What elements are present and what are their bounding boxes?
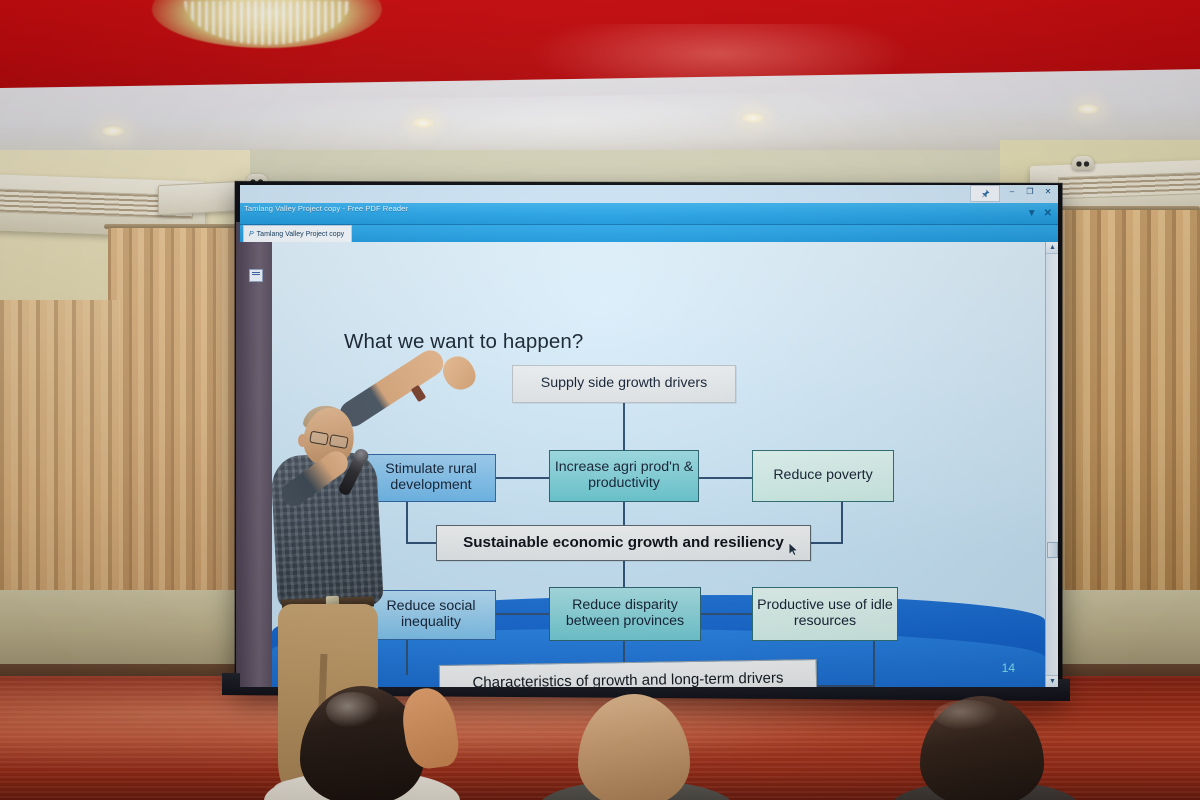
edge-right2-to-bottom — [817, 685, 875, 687]
node-reduce-disparity-between-provinces: Reduce disparity between provinces — [549, 587, 701, 641]
tab-strip — [240, 225, 1058, 242]
edge-left2-to-center2 — [496, 613, 549, 615]
security-camera-right — [1072, 156, 1094, 170]
tab-close-icon[interactable]: ✕ — [1044, 208, 1052, 219]
downlight-2 — [410, 117, 436, 129]
pdf-document-icon: P — [249, 231, 254, 238]
maximize-button[interactable]: ❐ — [1024, 186, 1036, 197]
scroll-down-button[interactable]: ▼ — [1046, 675, 1058, 687]
conference-room-photo: Tamlang Valley Project copy - Free PDF R… — [0, 0, 1200, 800]
edge-center1-to-right1 — [699, 477, 752, 479]
edge-right1-down — [841, 502, 843, 543]
tab-tamlang-valley-project[interactable]: P Tamlang Valley Project copy — [243, 225, 352, 242]
window-title: Tamlang Valley Project copy - Free PDF R… — [244, 204, 408, 213]
edge-core-to-center2 — [623, 561, 625, 587]
presenter-ear — [298, 434, 307, 447]
audience-hair-highlight-3 — [934, 700, 1000, 730]
node-supply-side-growth-drivers: Supply side growth drivers — [512, 365, 736, 403]
downlight-4 — [1075, 103, 1101, 115]
node-increase-agri-production: Increase agri prod'n & productivity — [549, 450, 699, 502]
edge-center2-to-right2 — [701, 613, 752, 615]
tab-dropdown-icon[interactable]: ▼ — [1027, 208, 1037, 219]
audience-head-3 — [920, 696, 1044, 800]
close-button[interactable]: ✕ — [1042, 186, 1054, 197]
mouse-cursor-icon — [788, 542, 799, 557]
downlight-3 — [740, 112, 766, 124]
edge-right2-down — [873, 641, 875, 686]
node-characteristics-of-growth: Characteristics of growth and long-term … — [439, 659, 818, 687]
edge-right1-to-core — [811, 542, 843, 544]
projector-mount-box — [158, 181, 244, 216]
vertical-scrollbar[interactable]: ▲ ▼ — [1045, 242, 1058, 687]
minimize-button[interactable]: – — [1006, 186, 1018, 197]
tab-label: Tamlang Valley Project copy — [257, 231, 344, 238]
edge-left1-to-center1 — [496, 477, 549, 479]
audience-head-2 — [578, 694, 690, 800]
edge-center1-to-core — [623, 502, 625, 525]
tab-bar-controls[interactable]: ▼ ✕ — [1027, 208, 1052, 219]
audience-head-shape-2 — [578, 694, 690, 800]
window-controls[interactable]: – ❐ ✕ — [1006, 186, 1054, 197]
node-reduce-poverty: Reduce poverty — [752, 450, 894, 502]
edge-top-to-center1 — [623, 403, 625, 450]
audience-hair-highlight-1 — [326, 692, 380, 728]
slide-page-number: 14 — [1002, 661, 1015, 675]
page-thumbnail-icon[interactable] — [249, 269, 263, 282]
pin-icon[interactable] — [970, 185, 1000, 202]
scrollbar-thumb[interactable] — [1047, 542, 1058, 558]
scroll-up-button[interactable]: ▲ — [1046, 242, 1058, 254]
node-productive-use-of-idle-resources: Productive use of idle resources — [752, 587, 898, 641]
node-sustainable-economic-growth: Sustainable economic growth and resilien… — [436, 525, 811, 561]
downlight-1 — [100, 125, 126, 137]
